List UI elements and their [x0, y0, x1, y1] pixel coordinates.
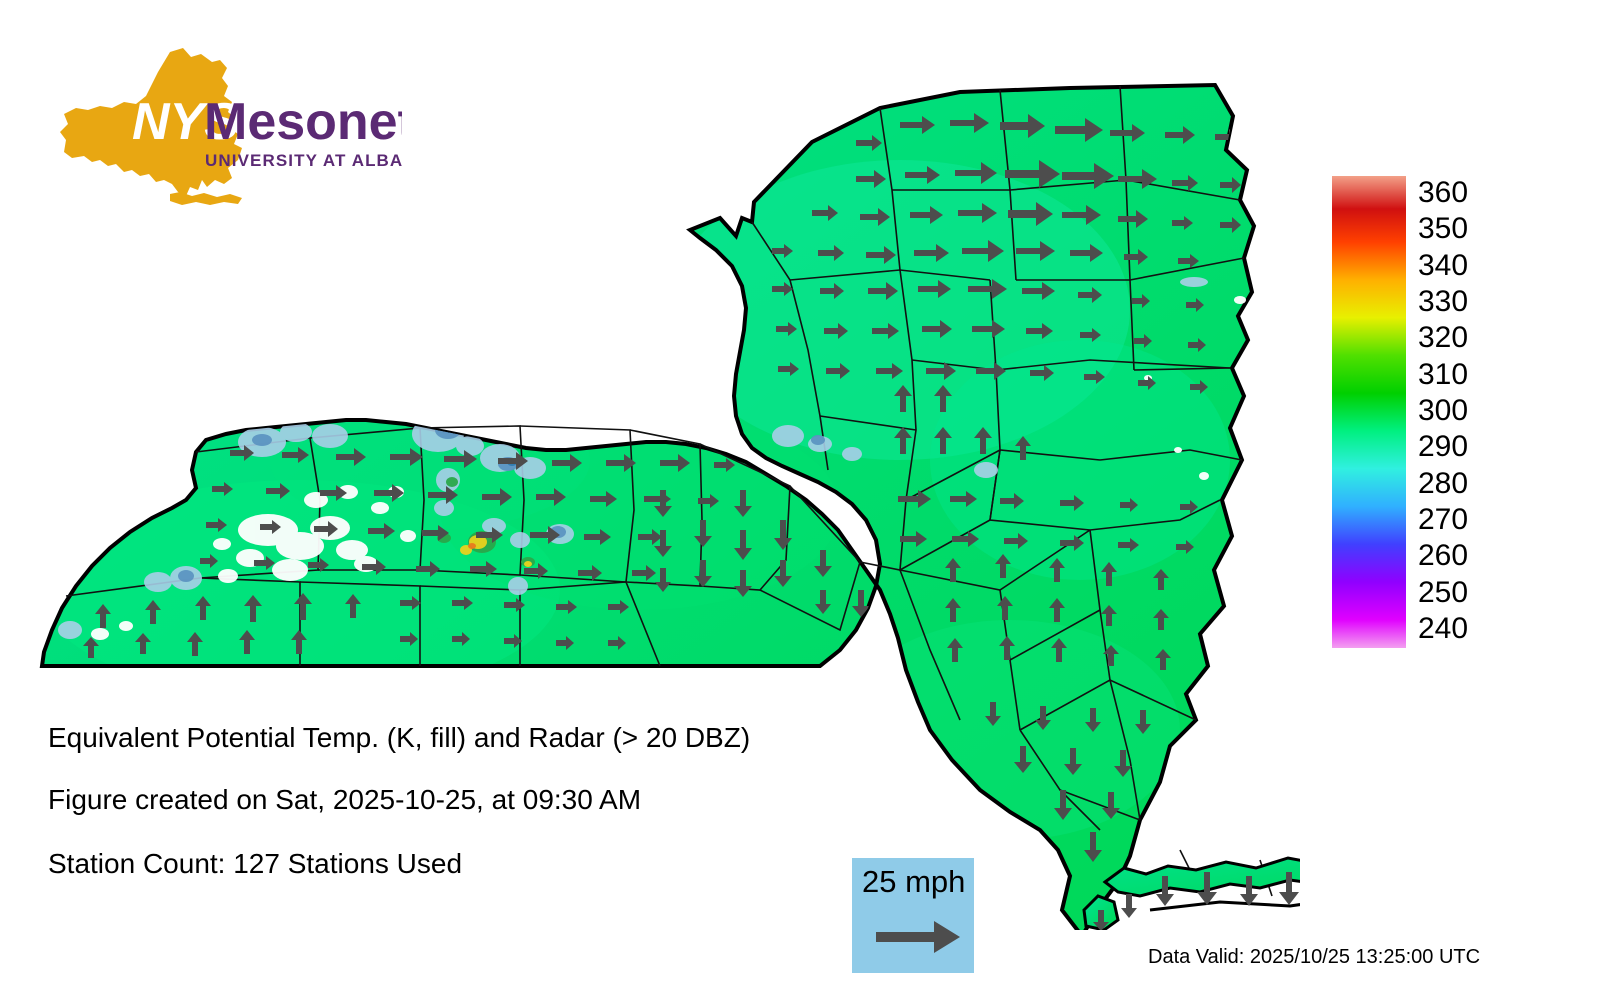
colorbar-gradient: [1332, 176, 1406, 648]
colorbar-tick-240: 240: [1418, 614, 1468, 644]
colorbar-tick-340: 340: [1418, 251, 1468, 281]
colorbar-tick-360: 360: [1418, 178, 1468, 208]
colorbar-tick-280: 280: [1418, 469, 1468, 499]
colorbar-tick-290: 290: [1418, 432, 1468, 462]
wind-key-label: 25 mph: [862, 864, 965, 900]
wind-key-arrow-icon: [870, 916, 966, 958]
colorbar-tick-310: 310: [1418, 360, 1468, 390]
equivalent-potential-temperature-colorbar: 360350340330320310300290280270260250240: [1332, 176, 1582, 656]
colorbar-tick-260: 260: [1418, 541, 1468, 571]
colorbar-tick-300: 300: [1418, 396, 1468, 426]
colorbar-tick-270: 270: [1418, 505, 1468, 535]
colorbar-tick-250: 250: [1418, 578, 1468, 608]
colorbar-tick-330: 330: [1418, 287, 1468, 317]
colorbar-tick-320: 320: [1418, 323, 1468, 353]
figure-created-caption: Figure created on Sat, 2025-10-25, at 09…: [48, 784, 641, 816]
map-title-caption: Equivalent Potential Temp. (K, fill) and…: [48, 722, 750, 754]
colorbar-tick-350: 350: [1418, 214, 1468, 244]
wind-speed-key: 25 mph: [852, 858, 974, 973]
data-valid-timestamp: Data Valid: 2025/10/25 13:25:00 UTC: [1148, 946, 1480, 969]
station-count-caption: Station Count: 127 Stations Used: [48, 848, 462, 880]
